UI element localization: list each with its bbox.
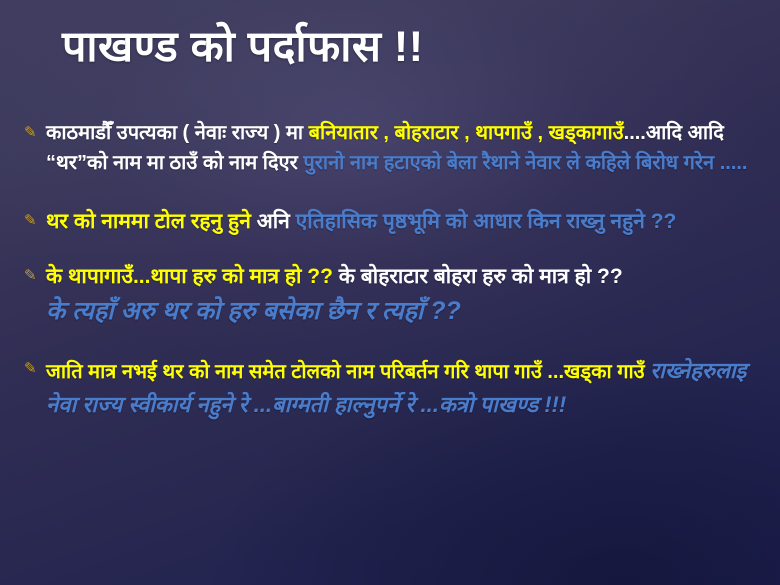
bullet-text-4: जाति मात्र नभई थर को नाम समेत टोलको नाम … xyxy=(46,354,768,422)
run-4-1: जाति मात्र नभई थर को नाम समेत टोलको नाम … xyxy=(46,361,650,383)
ornamental-bullet-icon: ✎ xyxy=(22,261,46,291)
run-1-1: काठमाडौँ उपत्यका ( नेवाः राज्य ) मा xyxy=(46,122,309,144)
bullet-item-1: ✎ काठमाडौँ उपत्यका ( नेवाः राज्य ) मा बन… xyxy=(22,118,768,178)
bullet-item-4: ✎ जाति मात्र नभई थर को नाम समेत टोलको ना… xyxy=(22,354,768,422)
run-2-3: एतिहासिक पृष्ठभूमि को आधार किन राख्नु नह… xyxy=(296,210,677,233)
title-block: पाखण्ड को पर्दाफास !! xyxy=(62,22,760,73)
bullet-item-2: ✎ थर को नाममा टोल रहनु हुने अनि एतिहासिक… xyxy=(22,206,768,237)
run-2-2: अनि xyxy=(251,210,296,233)
ornamental-bullet-icon: ✎ xyxy=(22,354,46,384)
page-title: पाखण्ड को पर्दाफास !! xyxy=(62,22,760,73)
ornamental-bullet-icon: ✎ xyxy=(22,206,46,236)
run-1-2: बनियातार , बोहराटार , थापगाउँ , खड्कागाउ… xyxy=(309,122,624,144)
bullet-text-3: के थापागाउँ...थापा हरु को मात्र हो ?? के… xyxy=(46,261,768,328)
bullet-item-3: ✎ के थापागाउँ...थापा हरु को मात्र हो ?? … xyxy=(22,261,768,328)
ornamental-bullet-icon: ✎ xyxy=(22,118,46,148)
bullet-text-1: काठमाडौँ उपत्यका ( नेवाः राज्य ) मा बनिय… xyxy=(46,118,768,178)
run-2-1: थर को नाममा टोल रहनु हुने xyxy=(46,210,251,233)
slide-canvas: पाखण्ड को पर्दाफास !! ✎ काठमाडौँ उपत्यका… xyxy=(0,0,780,585)
run-3-2: के बोहराटार बोहरा हरु को मात्र हो ?? xyxy=(333,265,623,288)
bullet-text-2: थर को नाममा टोल रहनु हुने अनि एतिहासिक प… xyxy=(46,206,768,237)
bullet-3-emphasis: के त्यहाँ अरु थर को हरु बसेका छैन र त्यह… xyxy=(46,294,768,328)
run-1-4: पुरानो नाम हटाएको बेला रैथाने नेवार ले क… xyxy=(303,152,747,174)
body-content: ✎ काठमाडौँ उपत्यका ( नेवाः राज्य ) मा बन… xyxy=(22,118,768,428)
run-3-1: के थापागाउँ...थापा हरु को मात्र हो ?? xyxy=(46,265,333,288)
